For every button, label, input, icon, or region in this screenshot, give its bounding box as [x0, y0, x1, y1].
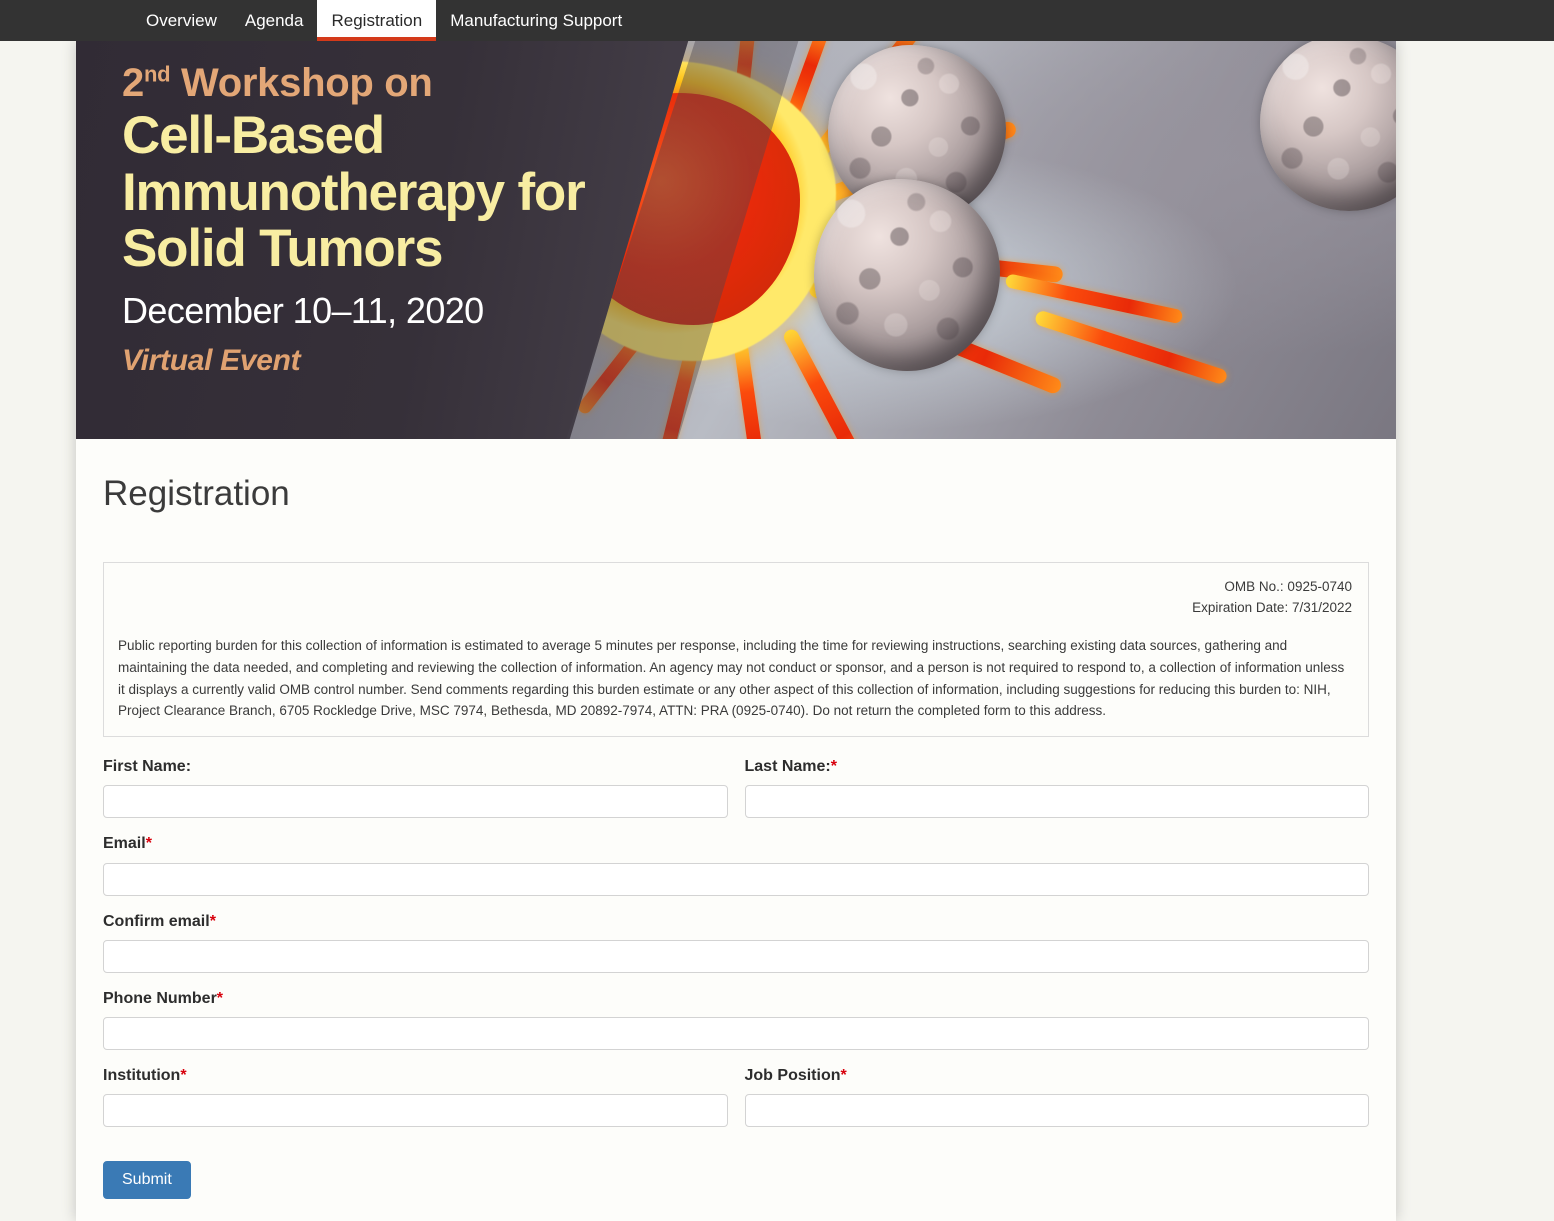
page-card: 2nd Workshop on Cell-Based Immunotherapy…: [76, 41, 1396, 1221]
form-row-confirm-email: Confirm email*: [103, 912, 1369, 989]
registration-form: First Name: Last Name:* Email* Confirm e…: [103, 757, 1369, 1199]
job-position-label-text: Job Position: [745, 1067, 841, 1084]
omb-header: OMB No.: 0925-0740 Expiration Date: 7/31…: [118, 577, 1352, 619]
banner-title: Cell-Based Immunotherapy for Solid Tumor…: [122, 108, 682, 278]
banner-eyebrow-rest: Workshop on: [170, 61, 432, 105]
required-asterisk: *: [831, 758, 837, 775]
banner-eyebrow: 2nd Workshop on: [122, 63, 682, 104]
nav-tab-agenda-label: Agenda: [245, 12, 304, 29]
form-row-phone: Phone Number*: [103, 989, 1369, 1066]
required-asterisk: *: [146, 835, 152, 852]
nav-tab-agenda[interactable]: Agenda: [231, 0, 318, 41]
last-name-input[interactable]: [745, 785, 1370, 818]
field-group-first-name: First Name:: [103, 757, 728, 818]
banner-event-type: Virtual Event: [122, 344, 682, 378]
banner-eyebrow-number: 2: [122, 61, 144, 105]
confirm-email-label: Confirm email*: [103, 912, 1369, 931]
nav-tab-registration-label: Registration: [331, 12, 422, 29]
required-asterisk: *: [841, 1067, 847, 1084]
lymphocyte-cell: [1260, 41, 1396, 211]
form-row-email: Email*: [103, 834, 1369, 911]
email-label: Email*: [103, 834, 1369, 853]
first-name-label-text: First Name:: [103, 758, 191, 775]
omb-burden-statement: Public reporting burden for this collect…: [118, 635, 1352, 722]
banner-title-line-1: Cell-Based: [122, 108, 682, 165]
submit-button[interactable]: Submit: [103, 1161, 191, 1199]
first-name-label: First Name:: [103, 757, 728, 776]
field-group-email: Email*: [103, 834, 1369, 895]
lymphocyte-cell: [814, 179, 1000, 371]
field-group-institution: Institution*: [103, 1066, 728, 1127]
nav-tab-manufacturing-support-label: Manufacturing Support: [450, 12, 622, 29]
nav-tab-overview[interactable]: Overview: [132, 0, 231, 41]
omb-notice-box: OMB No.: 0925-0740 Expiration Date: 7/31…: [103, 562, 1369, 737]
first-name-input[interactable]: [103, 785, 728, 818]
last-name-label-text: Last Name:: [745, 758, 831, 775]
confirm-email-label-text: Confirm email: [103, 913, 210, 930]
banner-eyebrow-ordinal: nd: [144, 62, 170, 87]
required-asterisk: *: [180, 1067, 186, 1084]
main-navigation: Overview Agenda Registration Manufacturi…: [0, 0, 1554, 41]
field-group-last-name: Last Name:*: [745, 757, 1370, 818]
nav-tab-manufacturing-support[interactable]: Manufacturing Support: [436, 0, 636, 41]
institution-input[interactable]: [103, 1094, 728, 1127]
form-row-institution-job: Institution* Job Position*: [103, 1066, 1369, 1143]
content-area: Registration OMB No.: 0925-0740 Expirati…: [76, 473, 1396, 1199]
phone-number-input[interactable]: [103, 1017, 1369, 1050]
email-label-text: Email: [103, 835, 146, 852]
field-group-confirm-email: Confirm email*: [103, 912, 1369, 973]
job-position-input[interactable]: [745, 1094, 1370, 1127]
email-input[interactable]: [103, 863, 1369, 896]
banner-title-line-3: Solid Tumors: [122, 221, 682, 278]
phone-number-label-text: Phone Number: [103, 990, 217, 1007]
confirm-email-input[interactable]: [103, 940, 1369, 973]
nav-tab-overview-label: Overview: [146, 12, 217, 29]
banner-date: December 10–11, 2020: [122, 290, 682, 332]
institution-label: Institution*: [103, 1066, 728, 1085]
last-name-label: Last Name:*: [745, 757, 1370, 776]
field-group-job-position: Job Position*: [745, 1066, 1370, 1127]
field-group-phone-number: Phone Number*: [103, 989, 1369, 1050]
banner-text-block: 2nd Workshop on Cell-Based Immunotherapy…: [122, 63, 682, 378]
omb-expiration-date: Expiration Date: 7/31/2022: [118, 598, 1352, 619]
institution-label-text: Institution: [103, 1067, 180, 1084]
nav-tab-registration[interactable]: Registration: [317, 0, 436, 41]
job-position-label: Job Position*: [745, 1066, 1370, 1085]
event-banner: 2nd Workshop on Cell-Based Immunotherapy…: [76, 41, 1396, 439]
required-asterisk: *: [210, 913, 216, 930]
form-row-names: First Name: Last Name:*: [103, 757, 1369, 834]
required-asterisk: *: [217, 990, 223, 1007]
banner-title-line-2: Immunotherapy for: [122, 165, 682, 222]
phone-number-label: Phone Number*: [103, 989, 1369, 1008]
page-title: Registration: [103, 473, 1369, 515]
omb-number: OMB No.: 0925-0740: [118, 577, 1352, 598]
